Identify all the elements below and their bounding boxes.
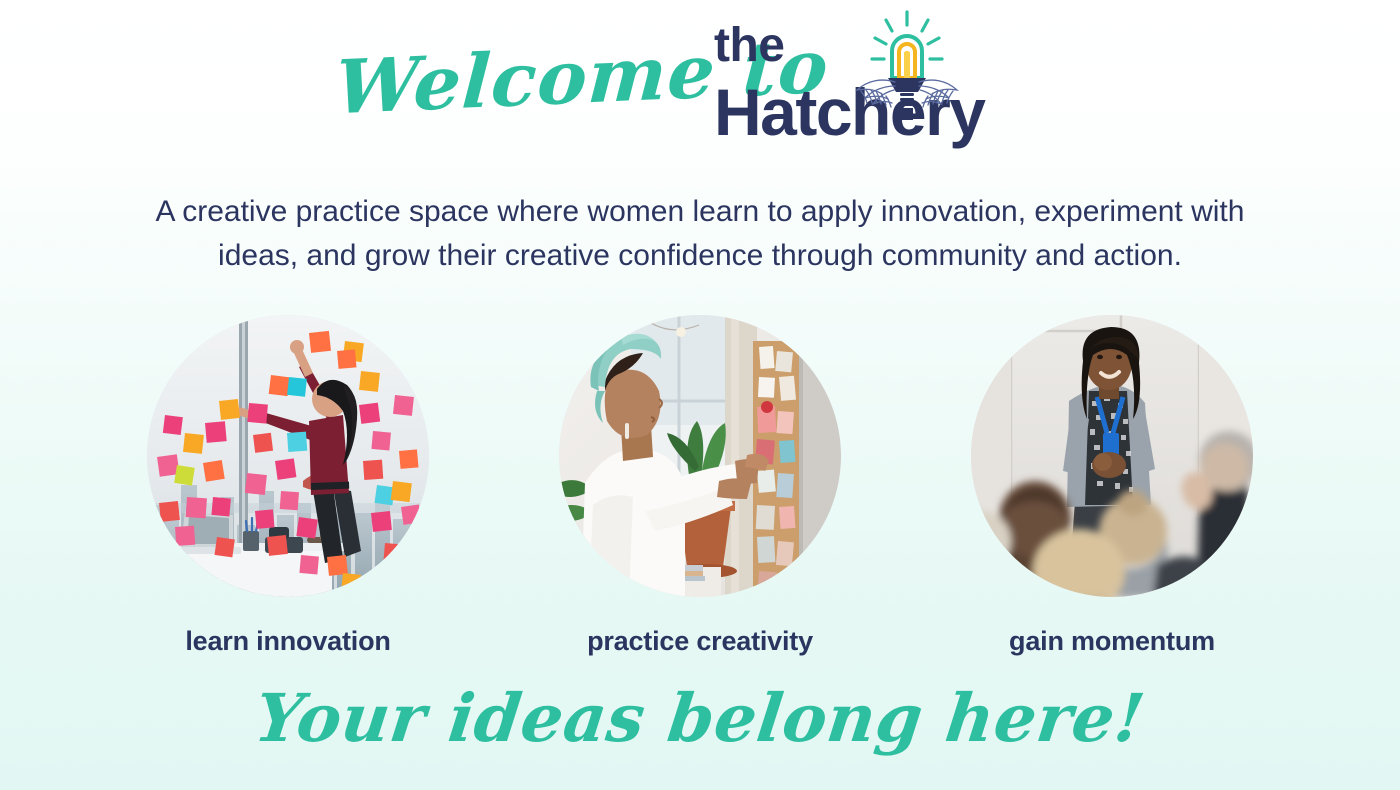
card-practice-creativity: practice creativity: [559, 315, 841, 656]
card-label-learn-innovation: learn innovation: [185, 626, 390, 656]
welcome-script-heading: Welcome to: [332, 20, 720, 146]
woman-presenting-to-audience-image: [971, 315, 1253, 597]
tagline-script: Your ideas belong here!: [0, 672, 1400, 764]
feature-cards: learn innovation: [0, 315, 1400, 655]
card-learn-innovation: learn innovation: [147, 315, 429, 656]
header: Welcome to the Hatchery: [0, 0, 1400, 175]
card-gain-momentum: gain momentum: [971, 315, 1253, 656]
card-label-practice-creativity: practice creativity: [587, 626, 813, 656]
subtitle-line-2: ideas, and grow their creative confidenc…: [70, 234, 1330, 278]
subtitle-paragraph: A creative practice space where women le…: [70, 190, 1330, 278]
woman-placing-sticky-notes-on-window-image: [147, 315, 429, 597]
winged-lightbulb-icon: [848, 8, 966, 120]
woman-arranging-mood-board-image: [559, 315, 841, 597]
hatchery-welcome-slide: Welcome to the Hatchery: [0, 0, 1400, 790]
card-label-gain-momentum: gain momentum: [1009, 626, 1215, 656]
subtitle-line-1: A creative practice space where women le…: [70, 190, 1330, 234]
